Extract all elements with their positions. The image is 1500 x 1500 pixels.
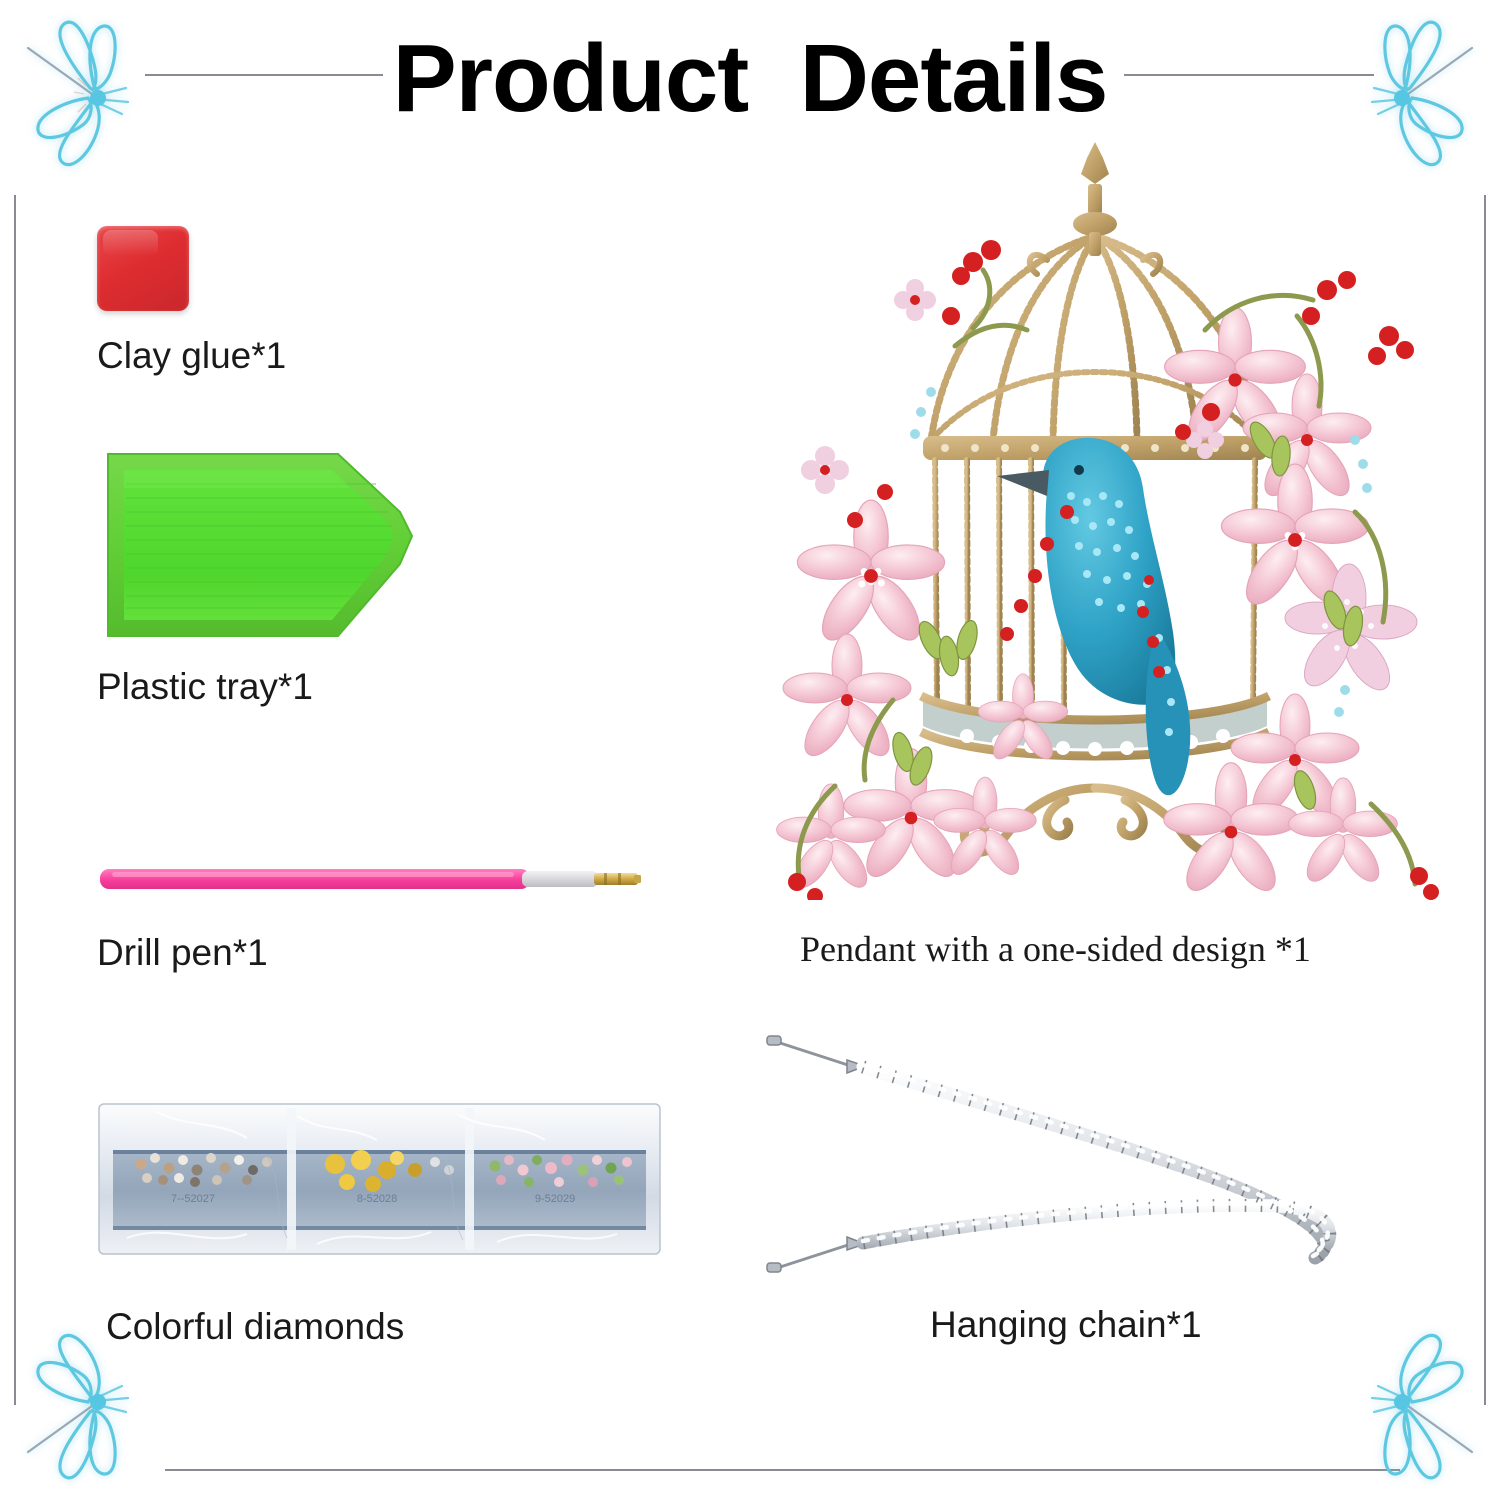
svg-text:7--52027: 7--52027 bbox=[171, 1193, 215, 1205]
svg-text:8-52028: 8-52028 bbox=[357, 1193, 397, 1205]
page-title: Product Details bbox=[0, 24, 1500, 134]
birdcage-pendant-icon bbox=[735, 140, 1455, 900]
frame-line-bottom bbox=[165, 1469, 1400, 1471]
plastic-tray-label: Plastic tray*1 bbox=[97, 666, 313, 708]
colorful-diamonds-label: Colorful diamonds bbox=[106, 1306, 404, 1348]
frame-line-left bbox=[14, 195, 16, 1405]
clay-glue-label: Clay glue*1 bbox=[97, 335, 286, 377]
silver-chain-icon bbox=[755, 1020, 1395, 1285]
clay-glue-square-icon bbox=[97, 226, 189, 311]
product-details-page: Product Details Clay glue*1 bbox=[0, 0, 1500, 1500]
diamonds-bag-icon: 7--52027 8-52028 9-52029 bbox=[97, 1098, 662, 1260]
hanging-chain-label: Hanging chain*1 bbox=[930, 1304, 1202, 1346]
dragonfly-icon bbox=[1292, 1298, 1492, 1498]
drill-pen-icon bbox=[98, 862, 643, 896]
frame-line-right bbox=[1484, 195, 1486, 1405]
pendant-label: Pendant with a one-sided design *1 bbox=[800, 928, 1311, 970]
svg-text:9-52029: 9-52029 bbox=[535, 1193, 575, 1205]
plastic-tray-icon bbox=[100, 440, 445, 650]
drill-pen-label: Drill pen*1 bbox=[97, 932, 268, 974]
